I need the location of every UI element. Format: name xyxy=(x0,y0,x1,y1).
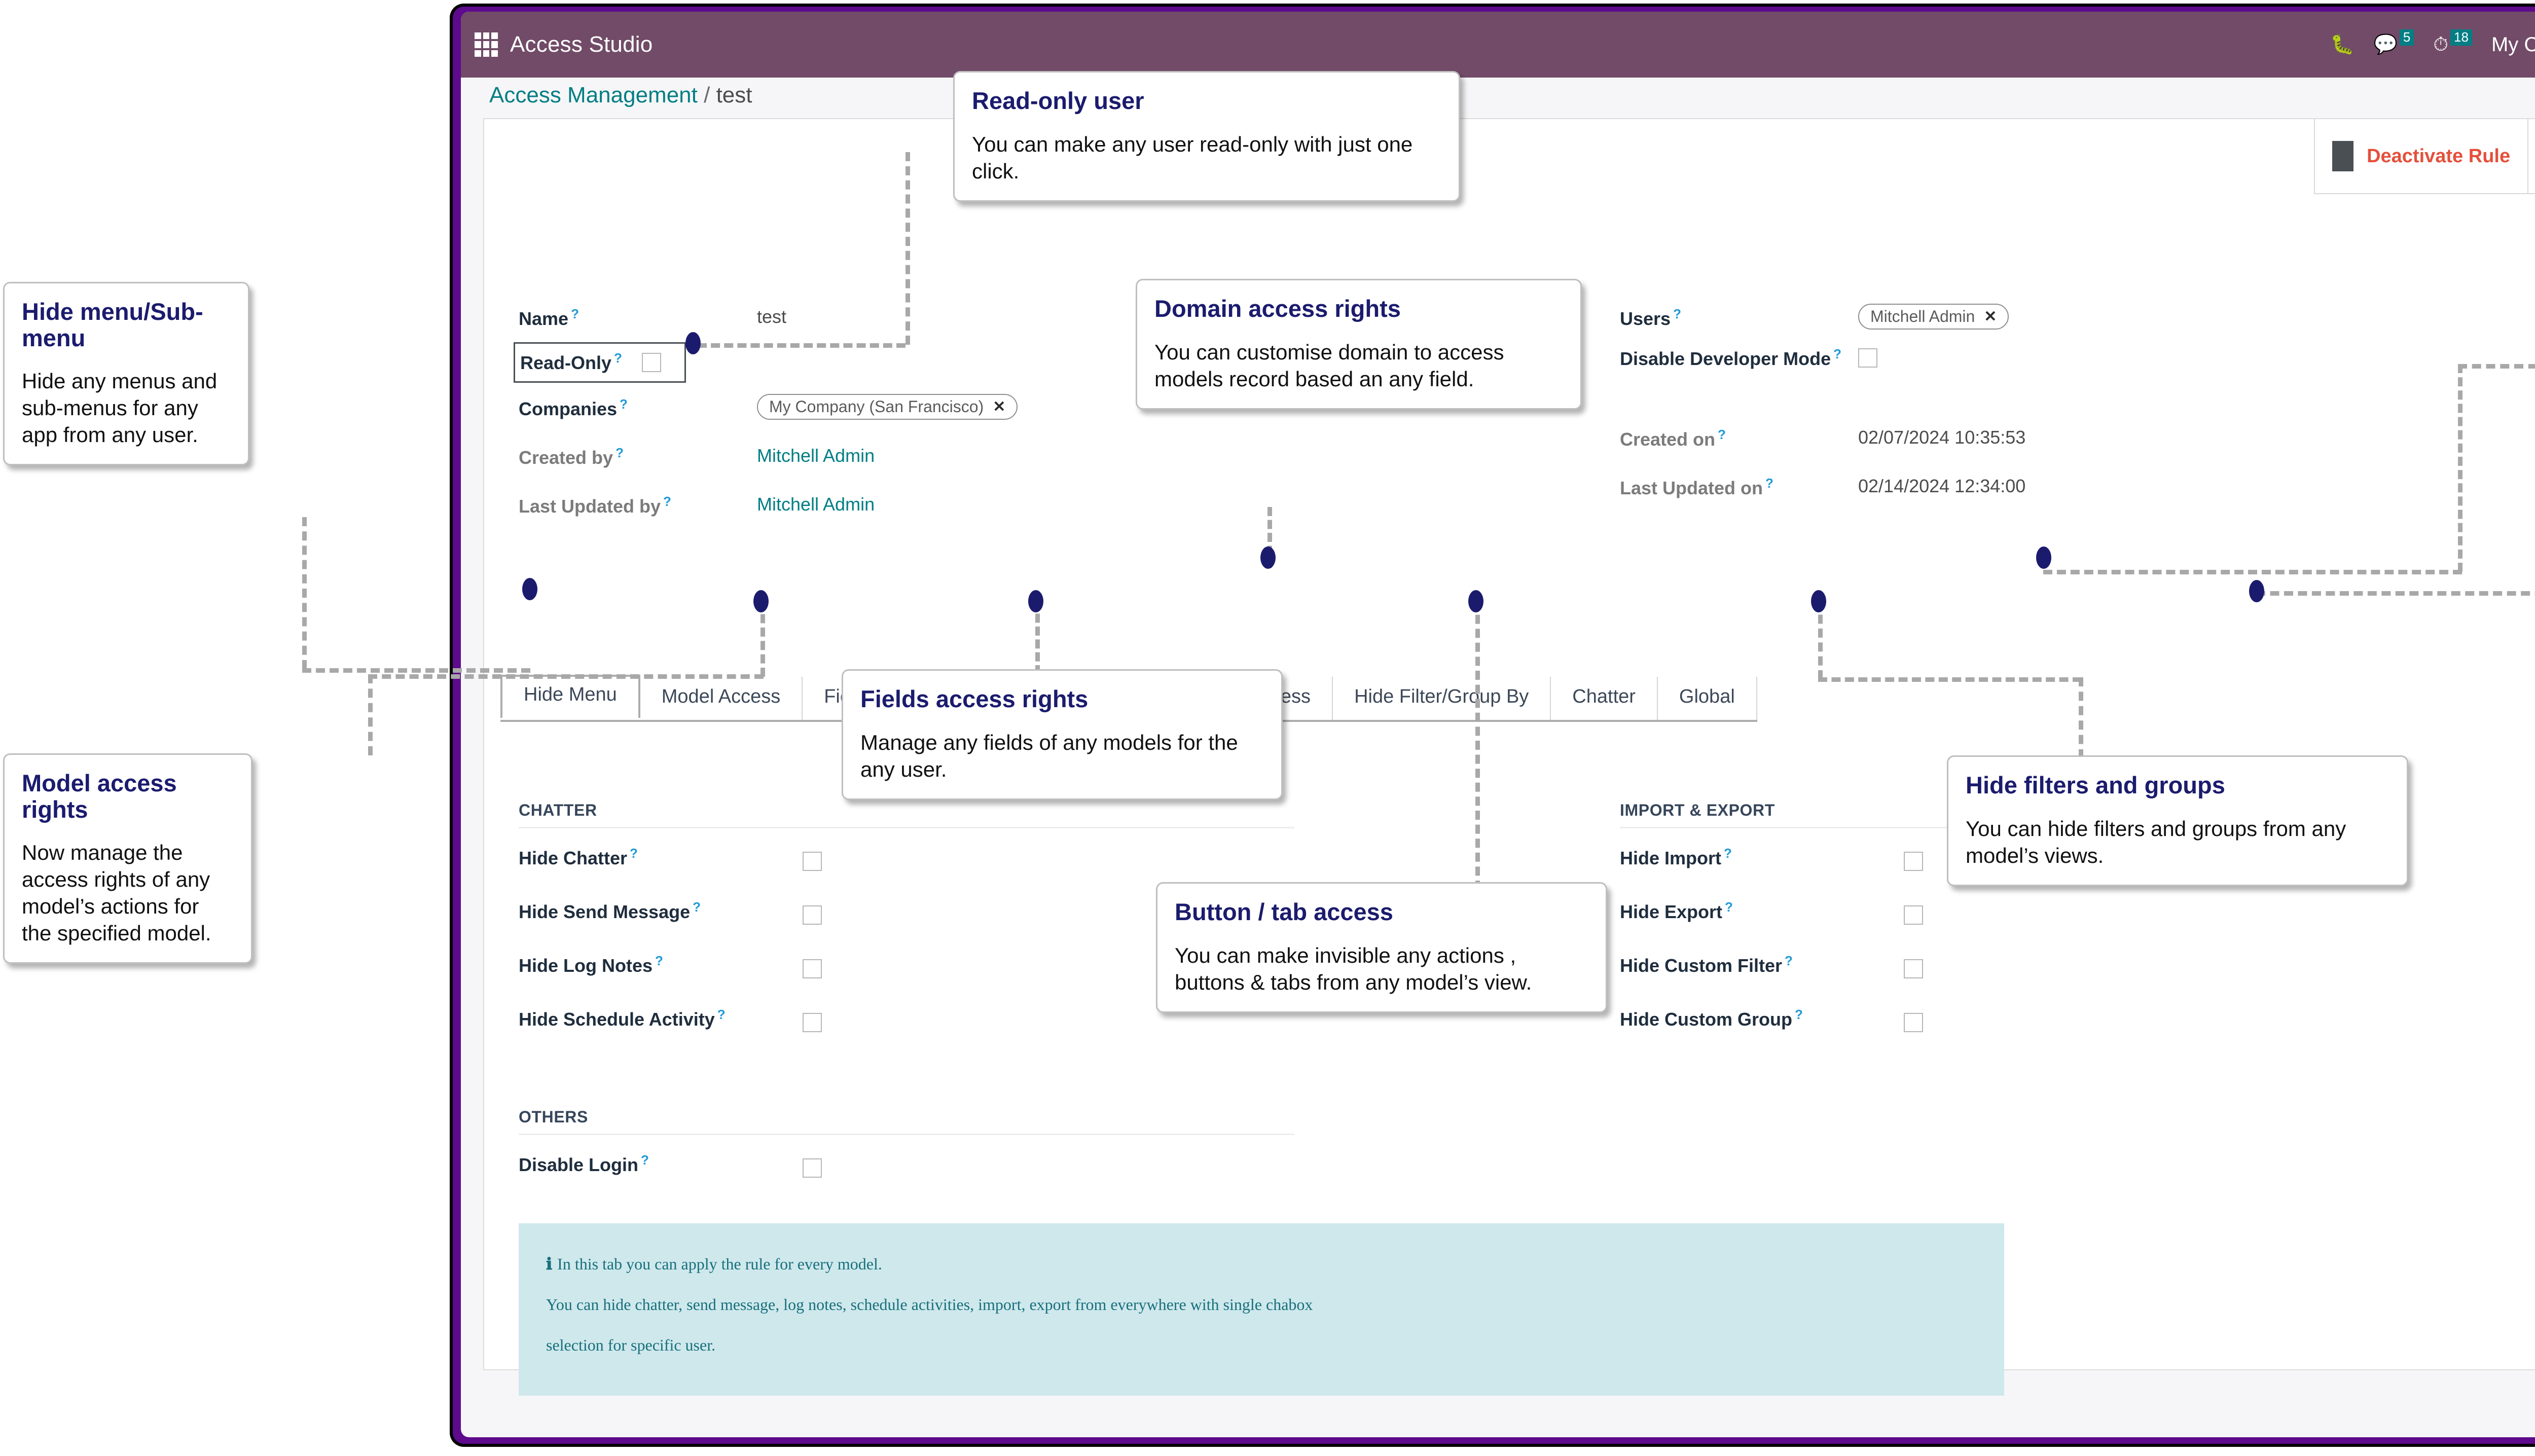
apps-grid-icon[interactable] xyxy=(475,32,498,57)
info-banner-line2: You can hide chatter, send message, log … xyxy=(546,1284,1977,1325)
chat-bubble-icon[interactable]: 💬5 xyxy=(2374,33,2414,56)
field-value-name[interactable]: test xyxy=(757,303,786,327)
field-label-created-on: Created on? xyxy=(1620,423,1858,450)
checkbox-row-hide-custom-group: Hide Custom Group? xyxy=(1620,1007,2396,1061)
deactivate-rule-button[interactable]: Deactivate Rule xyxy=(2315,119,2528,193)
field-created-on: Created on? 02/07/2024 10:35:53 xyxy=(1620,423,2482,463)
label-hide-export: Hide Export? xyxy=(1620,899,1904,923)
anchor-dot-global-tab xyxy=(2249,580,2264,602)
callout-body: Manage any fields of any models for the … xyxy=(860,730,1264,783)
form-statusbar: Deactivate Rule 0 Access Rules xyxy=(2314,119,2535,194)
field-label-created-by: Created by? xyxy=(519,442,757,468)
callout-model-access-rights: Model access rights Now manage the acces… xyxy=(3,753,252,964)
tab-global[interactable]: Global xyxy=(1658,677,1757,720)
field-label-name: Name? xyxy=(519,303,757,330)
anchor-dot-button-tab-access-tab xyxy=(1468,590,1483,612)
tag-user[interactable]: Mitchell Admin ✕ xyxy=(1858,304,2009,330)
connector-filters-h xyxy=(1818,677,2082,682)
breadcrumb: Access Management / test xyxy=(489,83,752,108)
app-viewport: Access Studio 🐛 💬5 ⏱18 My Company (San F… xyxy=(461,12,2535,1437)
clock-badge: 18 xyxy=(2450,29,2472,46)
tag-user-label: Mitchell Admin xyxy=(1870,307,1975,326)
bug-icon[interactable]: 🐛 xyxy=(2330,33,2354,56)
info-banner-line3: selection for specific user. xyxy=(546,1325,1977,1365)
callout-body: You can make invisible any actions , but… xyxy=(1175,942,1588,996)
close-icon[interactable]: ✕ xyxy=(993,398,1005,416)
callout-hide-filters-and-groups: Hide filters and groups You can hide fil… xyxy=(1947,755,2408,886)
callout-body: You can make any user read-only with jus… xyxy=(972,131,1441,185)
callout-title: Hide menu/Sub-menu xyxy=(22,299,231,351)
checkbox-hide-export[interactable] xyxy=(1904,905,1923,925)
field-read-only: Read-Only? xyxy=(514,342,686,383)
clock-icon[interactable]: ⏱18 xyxy=(2433,34,2472,56)
app-title: Access Studio xyxy=(510,32,653,57)
connector-button-v xyxy=(1475,601,1480,890)
connector-readonly-v xyxy=(906,152,910,345)
anchor-dot-domain-access-tab xyxy=(1260,547,1276,569)
section-title-chatter: CHATTER xyxy=(519,801,1294,828)
access-rules-button[interactable]: 0 Access Rules xyxy=(2528,119,2535,193)
checkbox-hide-custom-filter[interactable] xyxy=(1904,959,1923,978)
connector-chatter-h2 xyxy=(2043,570,2462,574)
field-checkbox-disable-developer-mode[interactable] xyxy=(1858,342,1877,370)
checkbox-hide-log-notes[interactable] xyxy=(803,959,822,978)
field-disable-developer-mode: Disable Developer Mode? xyxy=(1620,342,2482,418)
callout-body: You can customise domain to access model… xyxy=(1154,339,1563,393)
connector-hidemenu-v xyxy=(302,517,307,669)
connector-model-h xyxy=(368,674,764,679)
label-hide-custom-group: Hide Custom Group? xyxy=(1620,1007,1904,1030)
toggle-swatch-icon xyxy=(2332,141,2353,171)
field-label-users: Users? xyxy=(1620,303,1858,330)
connector-filters-v2 xyxy=(2079,677,2083,758)
checkbox-row-disable-login: Disable Login? xyxy=(519,1152,1294,1206)
tag-company[interactable]: My Company (San Francisco) ✕ xyxy=(757,394,1018,420)
field-last-updated-on: Last Updated on? 02/14/2024 12:34:00 xyxy=(1620,472,2482,512)
info-banner-line1: In this tab you can apply the rule for e… xyxy=(557,1255,882,1273)
breadcrumb-separator: / xyxy=(704,83,710,107)
label-hide-schedule-activity: Hide Schedule Activity? xyxy=(519,1007,803,1030)
field-label-last-updated-on: Last Updated on? xyxy=(1620,472,1858,499)
breadcrumb-current: test xyxy=(716,83,752,107)
checkbox-row-hide-export: Hide Export? xyxy=(1620,899,2396,953)
anchor-dot-readonly xyxy=(685,332,701,354)
checkbox-hide-schedule-activity[interactable] xyxy=(803,1013,822,1032)
label-hide-import: Hide Import? xyxy=(1620,846,1904,869)
label-hide-log-notes: Hide Log Notes? xyxy=(519,953,803,976)
deactivate-rule-label: Deactivate Rule xyxy=(2367,145,2510,167)
anchor-dot-chatter-tab xyxy=(2036,547,2051,569)
field-label-read-only: Read-Only? xyxy=(515,347,642,374)
form-fields-right: Users? Mitchell Admin ✕ Disable Develope… xyxy=(1620,303,2482,512)
connector-hidemenu-h xyxy=(302,668,530,673)
tag-company-label: My Company (San Francisco) xyxy=(769,397,984,416)
section-others: OTHERS Disable Login? xyxy=(519,1108,1294,1206)
field-value-last-updated-by[interactable]: Mitchell Admin xyxy=(757,490,875,515)
callout-title: Fields access rights xyxy=(860,686,1264,712)
anchor-dot-field-access-tab xyxy=(1028,590,1043,612)
callout-read-only-user: Read-only user You can make any user rea… xyxy=(953,71,1460,202)
browser-window: Access Studio 🐛 💬5 ⏱18 My Company (San F… xyxy=(453,7,2535,1444)
tab-hide-menu[interactable]: Hide Menu xyxy=(500,675,640,718)
connector-filters-v xyxy=(1818,601,1823,679)
info-banner: ℹIn this tab you can apply the rule for … xyxy=(519,1223,2004,1396)
label-disable-login: Disable Login? xyxy=(519,1152,803,1176)
anchor-dot-hide-filter-tab xyxy=(1811,590,1826,612)
callout-title: Domain access rights xyxy=(1154,296,1563,322)
checkbox-row-hide-custom-filter: Hide Custom Filter? xyxy=(1620,953,2396,1007)
tab-hide-filter-group-by[interactable]: Hide Filter/Group By xyxy=(1333,677,1551,720)
company-selector[interactable]: My Company (San Francisco) xyxy=(2491,33,2535,56)
label-hide-chatter: Hide Chatter? xyxy=(519,846,803,869)
callout-title: Model access rights xyxy=(22,770,234,822)
field-last-updated-by: Last Updated by? Mitchell Admin xyxy=(519,490,1310,530)
app-top-bar: Access Studio 🐛 💬5 ⏱18 My Company (San F… xyxy=(461,12,2535,78)
connector-global-h xyxy=(2256,591,2535,596)
close-icon[interactable]: ✕ xyxy=(1984,308,1997,325)
callout-title: Button / tab access xyxy=(1175,899,1588,925)
section-title-others: OTHERS xyxy=(519,1108,1294,1135)
callout-title: Hide filters and groups xyxy=(1966,772,2389,798)
callout-body: Now manage the access rights of any mode… xyxy=(22,840,234,947)
field-created-by: Created by? Mitchell Admin xyxy=(519,442,1310,481)
tab-chatter[interactable]: Chatter xyxy=(1551,677,1658,720)
breadcrumb-root[interactable]: Access Management xyxy=(489,83,698,107)
connector-chatter-v xyxy=(2458,364,2462,572)
callout-hide-menu-sub-menu: Hide menu/Sub-menu Hide any menus and su… xyxy=(3,282,249,465)
field-value-users[interactable]: Mitchell Admin ✕ xyxy=(1858,303,2009,330)
top-bar-right-group: 🐛 💬5 ⏱18 My Company (San Francisco) xyxy=(2330,12,2535,78)
callout-button-tab-access: Button / tab access You can make invisib… xyxy=(1156,882,1607,1013)
checkbox-hide-send-message[interactable] xyxy=(803,905,822,925)
field-value-last-updated-on: 02/14/2024 12:34:00 xyxy=(1858,472,2025,497)
field-label-companies: Companies? xyxy=(519,393,757,420)
field-users: Users? Mitchell Admin ✕ xyxy=(1620,303,2482,342)
field-value-created-on: 02/07/2024 10:35:53 xyxy=(1858,423,2025,448)
callout-domain-access-rights: Domain access rights You can customise d… xyxy=(1136,279,1582,410)
label-hide-custom-filter: Hide Custom Filter? xyxy=(1620,953,1904,976)
field-value-created-by[interactable]: Mitchell Admin xyxy=(757,442,875,466)
field-checkbox-read-only[interactable] xyxy=(642,347,661,375)
anchor-dot-hide-menu-tab xyxy=(522,578,537,600)
label-hide-send-message: Hide Send Message? xyxy=(519,899,803,923)
anchor-dot-model-access-tab xyxy=(753,590,769,612)
callout-body: Hide any menus and sub-menus for any app… xyxy=(22,368,231,449)
checkbox-row-hide-schedule-activity: Hide Schedule Activity? xyxy=(519,1007,1294,1061)
callout-body: You can hide filters and groups from any… xyxy=(1966,816,2389,869)
tab-model-access[interactable]: Model Access xyxy=(640,677,803,720)
checkbox-hide-import[interactable] xyxy=(1904,852,1923,871)
field-label-disable-developer-mode: Disable Developer Mode? xyxy=(1620,342,1858,370)
callout-fields-access-rights: Fields access rights Manage any fields o… xyxy=(842,669,1283,800)
connector-model-v xyxy=(368,674,373,755)
field-label-last-updated-by: Last Updated by? xyxy=(519,490,757,517)
checkbox-hide-chatter[interactable] xyxy=(803,852,822,871)
info-icon: ℹ xyxy=(546,1255,552,1273)
chat-badge: 5 xyxy=(2400,29,2414,46)
checkbox-hide-custom-group[interactable] xyxy=(1904,1013,1923,1032)
connector-readonly-h xyxy=(698,343,906,348)
field-value-companies[interactable]: My Company (San Francisco) ✕ xyxy=(757,393,1018,420)
callout-title: Read-only user xyxy=(972,88,1441,114)
connector-chatter-h xyxy=(2458,364,2535,369)
checkbox-disable-login[interactable] xyxy=(803,1158,822,1178)
